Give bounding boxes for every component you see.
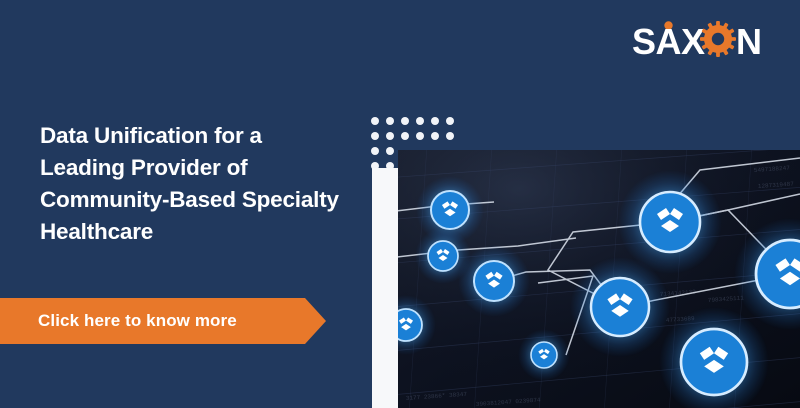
grid-dot (446, 132, 454, 140)
svg-text:N: N (736, 21, 762, 62)
saxon-logo-mark: SAX (632, 18, 772, 62)
white-accent-bar (372, 168, 398, 408)
network-graphic: 7134142139 7983425111 47733689 549718824… (398, 150, 800, 408)
grid-dot (431, 132, 439, 140)
cta-button[interactable]: Click here to know more (0, 298, 326, 344)
grid-dot (371, 117, 379, 125)
grid-dot (416, 117, 424, 125)
grid-dot (431, 117, 439, 125)
marketing-banner: SAX (0, 0, 800, 408)
saxon-logo[interactable]: SAX (632, 18, 772, 62)
grid-dot (416, 132, 424, 140)
grid-dot (386, 117, 394, 125)
grid-dot (386, 147, 394, 155)
grid-dot (386, 132, 394, 140)
grid-dot (401, 132, 409, 140)
grid-dot (446, 117, 454, 125)
cta-label: Click here to know more (38, 311, 237, 331)
network-illustration: 7134142139 7983425111 47733689 549718824… (398, 150, 800, 408)
headline-text: Data Unification for a Leading Provider … (40, 120, 350, 248)
grid-dot (401, 117, 409, 125)
grid-dot (371, 147, 379, 155)
grid-dot (371, 132, 379, 140)
gear-sunburst-icon (700, 21, 736, 57)
svg-text:SAX: SAX (632, 21, 705, 62)
